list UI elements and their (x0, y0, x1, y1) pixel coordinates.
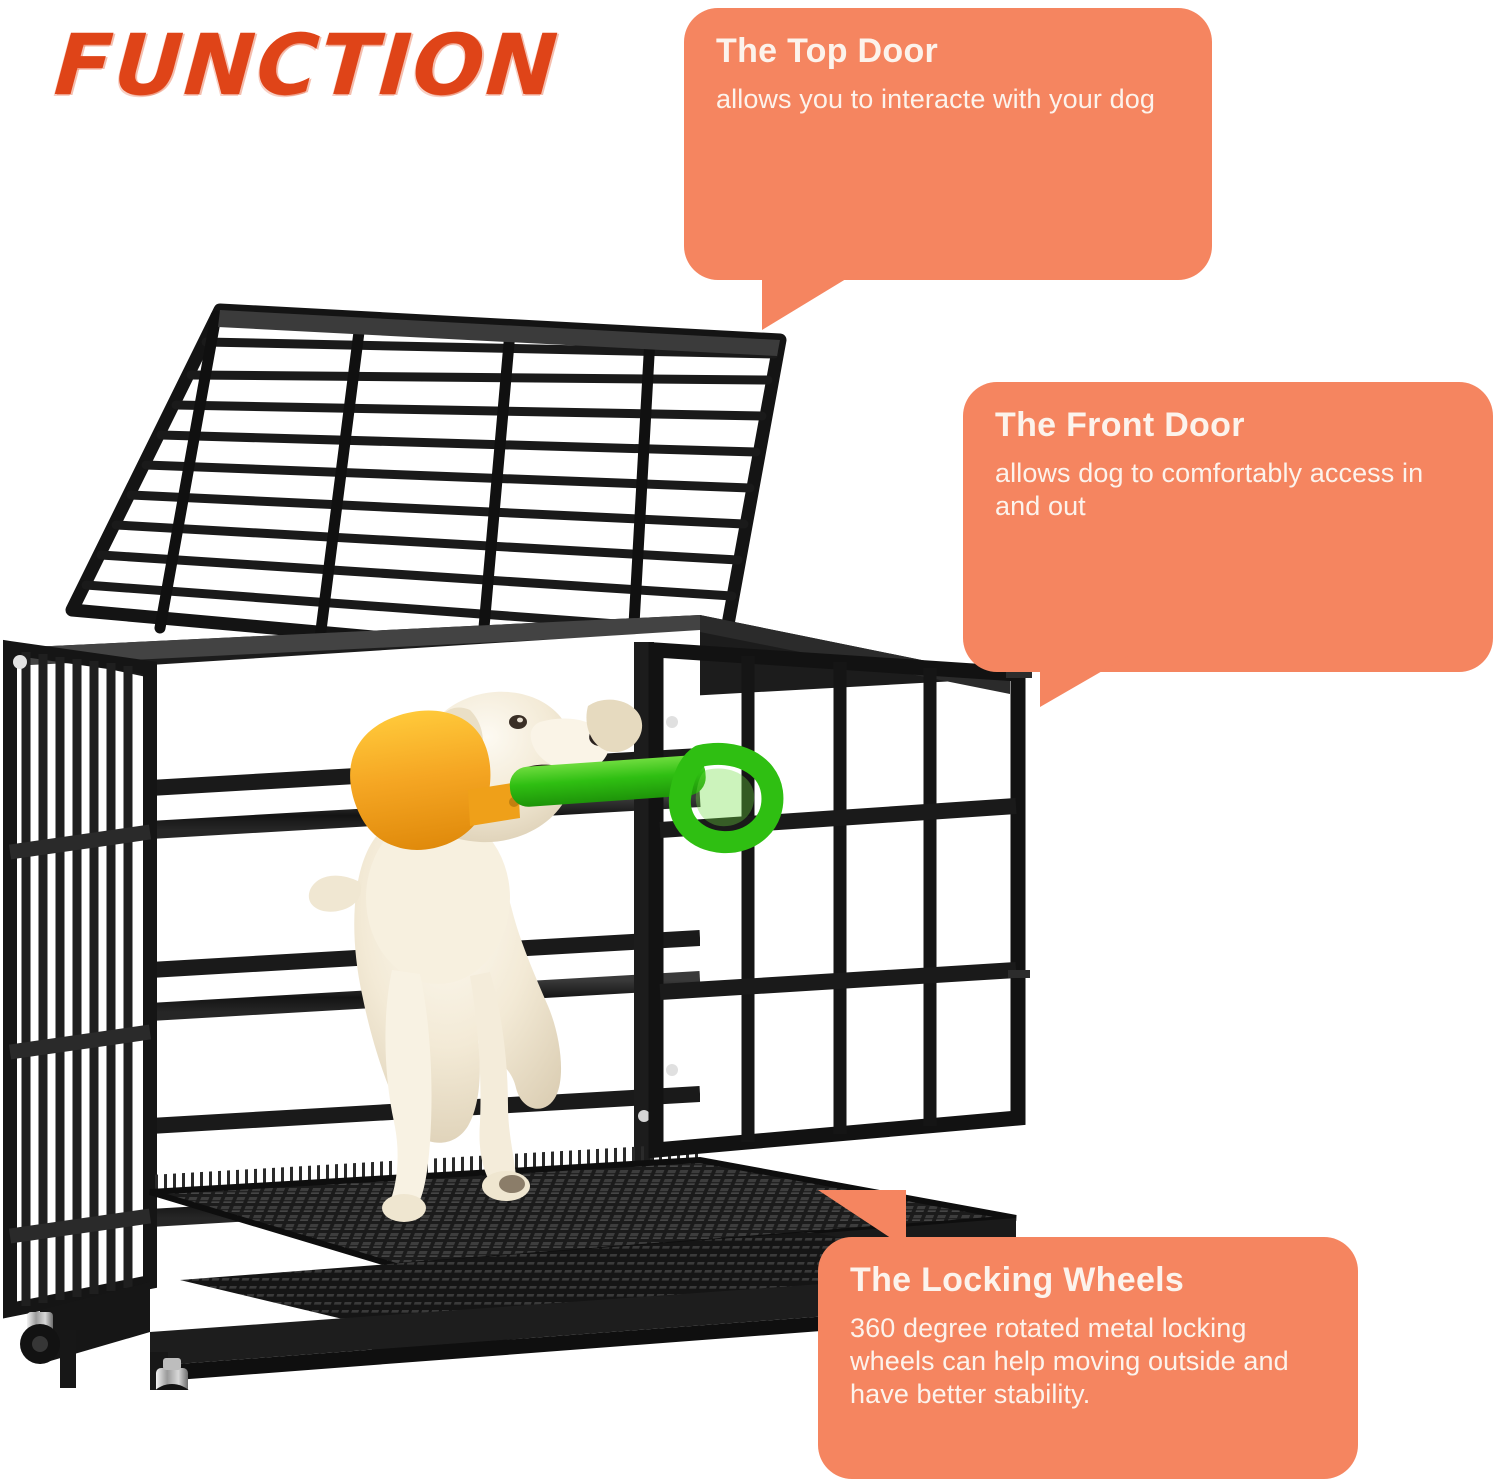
front-door-panel (656, 650, 1032, 1150)
callout-locking-wheels-tail (818, 1190, 906, 1248)
infographic-page: FUNCTION (0, 0, 1500, 1484)
top-door-panel (72, 310, 780, 668)
callout-top-door-body: allows you to interacte with your dog (716, 83, 1182, 116)
callout-top-door: The Top Door allows you to interacte wit… (684, 8, 1212, 280)
callout-front-door-title: The Front Door (995, 404, 1463, 447)
page-title: FUNCTION (52, 16, 563, 114)
callout-front-door-body: allows dog to comfortably access in and … (995, 457, 1463, 524)
callout-front-door-tail (1040, 655, 1130, 707)
callout-top-door-title: The Top Door (716, 30, 1182, 73)
callout-top-door-tail (762, 268, 864, 330)
crate-left-side-panel (10, 648, 150, 1310)
callout-front-door: The Front Door allows dog to comfortably… (963, 382, 1493, 672)
callout-locking-wheels-body: 360 degree rotated metal locking wheels … (850, 1312, 1328, 1412)
callout-locking-wheels: The Locking Wheels 360 degree rotated me… (818, 1237, 1358, 1479)
callout-locking-wheels-title: The Locking Wheels (850, 1259, 1328, 1302)
